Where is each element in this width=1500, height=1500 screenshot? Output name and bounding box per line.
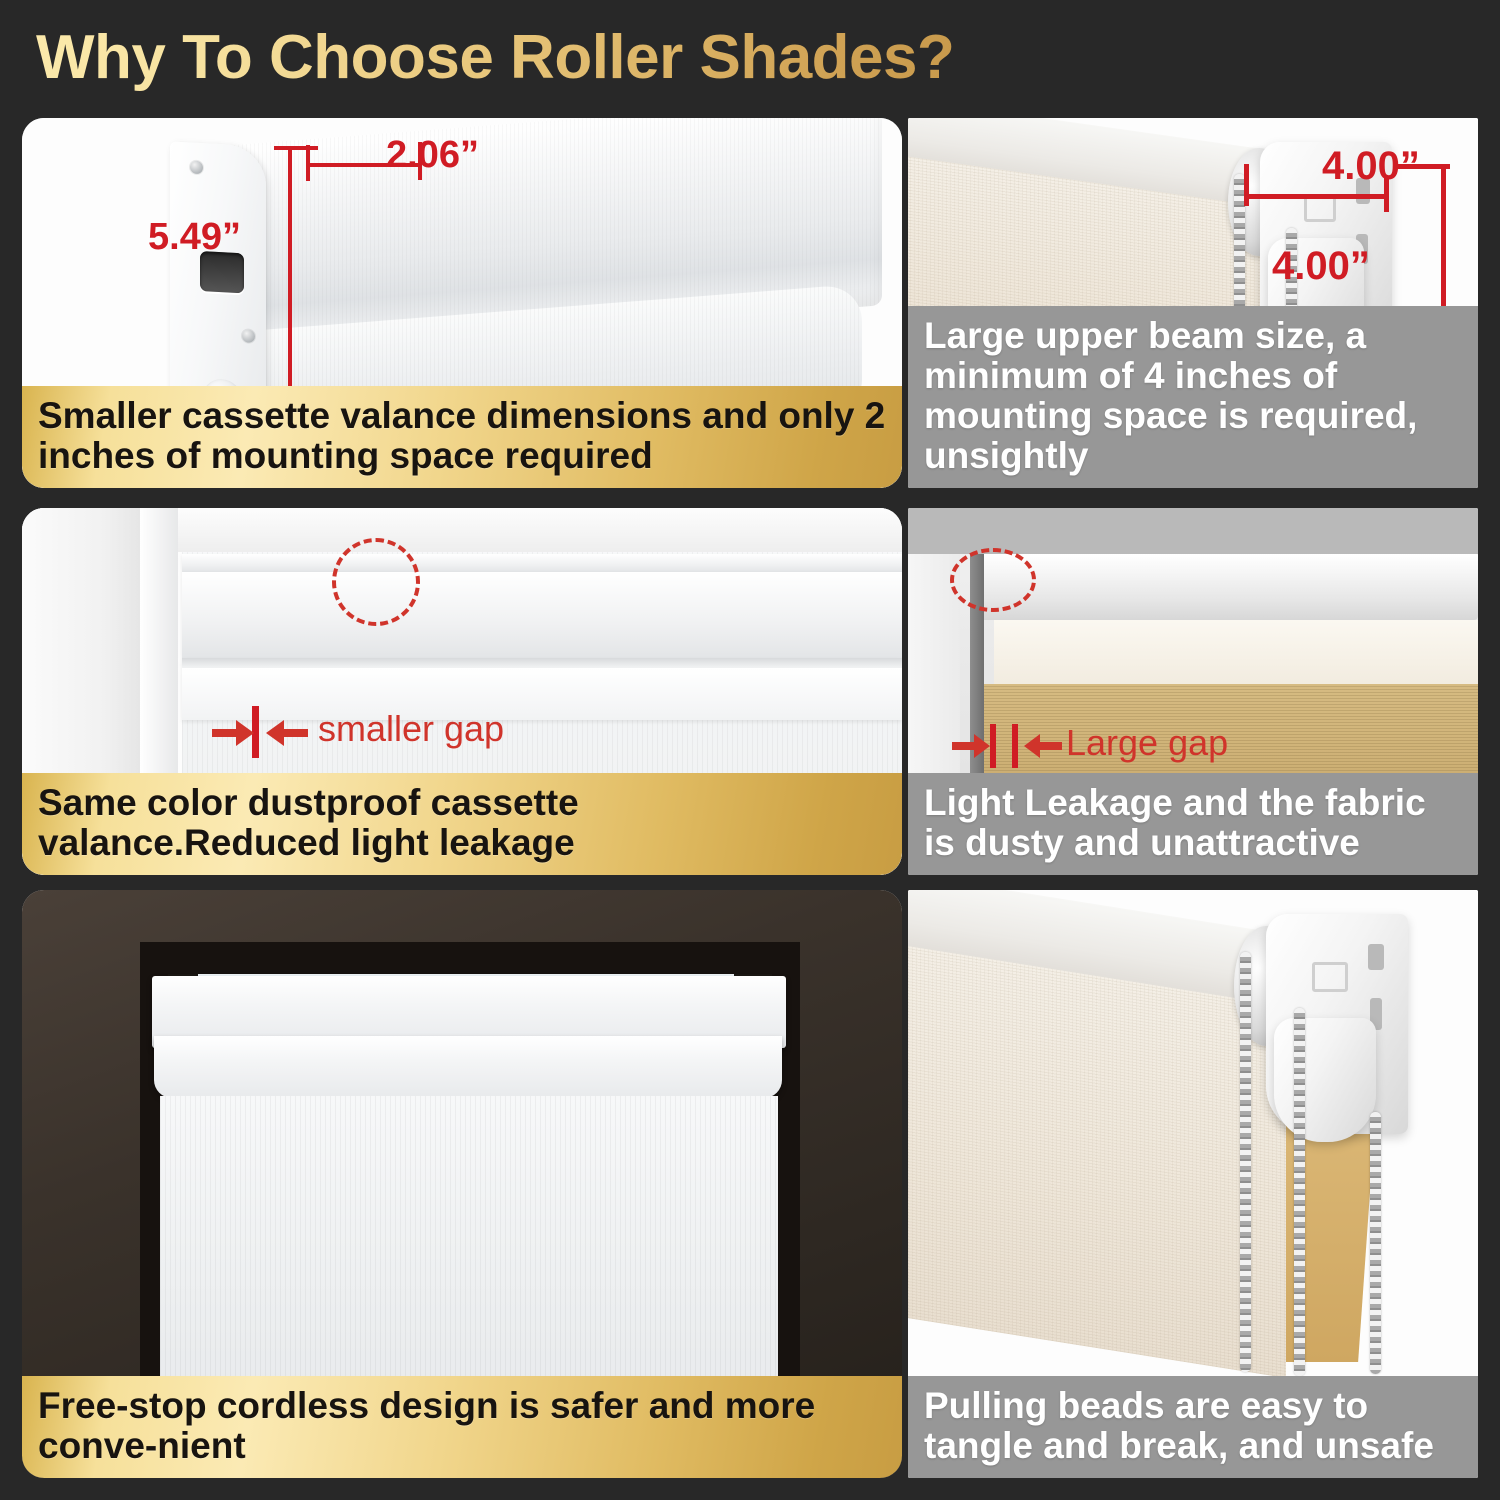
beam-width-dim-line — [1246, 194, 1388, 199]
cassette-lower-face — [994, 620, 1478, 684]
panel-cordless-design: Free-stop cordless design is safer and m… — [22, 890, 902, 1478]
roller-shade-fabric — [908, 944, 1286, 1378]
panel-light-leakage: Large gap Light Leakage and the fabric i… — [908, 508, 1478, 875]
smaller-gap-label: smaller gap — [318, 708, 504, 750]
panel-dustproof-valance: smaller gap Same color dustproof cassett… — [22, 508, 902, 875]
height-dim-tick-top — [274, 146, 318, 150]
gap-arrow-left-icon — [952, 734, 990, 758]
gap-arrow-right-icon — [1024, 734, 1062, 758]
gap-marker-bar-inner — [990, 724, 996, 768]
width-dim-tick-left — [306, 145, 310, 181]
large-gap-label: Large gap — [1066, 722, 1228, 764]
panel-5-caption: Free-stop cordless design is safer and m… — [22, 1376, 902, 1478]
page-title: Why To Choose Roller Shades? — [36, 22, 954, 93]
infographic-page: Why To Choose Roller Shades? 2.06” — [0, 0, 1500, 1500]
bracket-notch-top — [1368, 944, 1384, 970]
panel-2-caption: Large upper beam size, a minimum of 4 in… — [908, 306, 1478, 488]
beam-height-tick-top — [1394, 164, 1450, 169]
panel-pulling-beads: Pulling beads are easy to tangle and bre… — [908, 890, 1478, 1478]
bracket-lower-lobe — [1274, 1018, 1376, 1142]
end-cap-screw-mid — [242, 329, 255, 343]
panel-6-caption: Pulling beads are easy to tangle and bre… — [908, 1376, 1478, 1478]
bead-chain-mid — [1294, 1008, 1305, 1376]
panel-1-caption: Smaller cassette valance dimensions and … — [22, 386, 902, 488]
highlight-circle-icon — [950, 548, 1036, 612]
gap-arrow-left-icon — [212, 720, 254, 746]
roller-cassette — [970, 554, 1478, 620]
width-dimension-label: 2.06” — [386, 134, 479, 177]
panel-smaller-cassette: 2.06” 5.49” Smaller cassette valance dim… — [22, 118, 902, 488]
roller-shade-fabric — [160, 1096, 778, 1408]
panel-large-upper-beam: 4.00” 4.00” Large upper beam size, a min… — [908, 118, 1478, 488]
valance-shadow-line — [182, 658, 902, 668]
cassette-valance-body — [182, 572, 902, 658]
bead-chain-left — [1240, 952, 1251, 1372]
beam-width-tick-left — [1244, 164, 1249, 206]
panel-3-caption: Same color dustproof cassette valance.Re… — [22, 773, 902, 875]
end-cap-screw-top — [190, 161, 203, 175]
bead-chain-right — [1370, 1112, 1381, 1374]
height-dimension-label: 5.49” — [148, 216, 241, 259]
valance-roll — [154, 1036, 782, 1098]
beam-height-label: 4.00” — [1272, 244, 1370, 289]
highlight-circle-icon — [332, 538, 420, 626]
gap-arrow-right-icon — [266, 720, 308, 746]
cassette-valance-front — [182, 554, 902, 572]
panel-4-caption: Light Leakage and the fabric is dusty an… — [908, 773, 1478, 875]
gap-marker-bar-outer — [1012, 724, 1018, 768]
shade-roll-highlight — [182, 668, 902, 720]
bracket-tab-upper — [1312, 962, 1348, 992]
